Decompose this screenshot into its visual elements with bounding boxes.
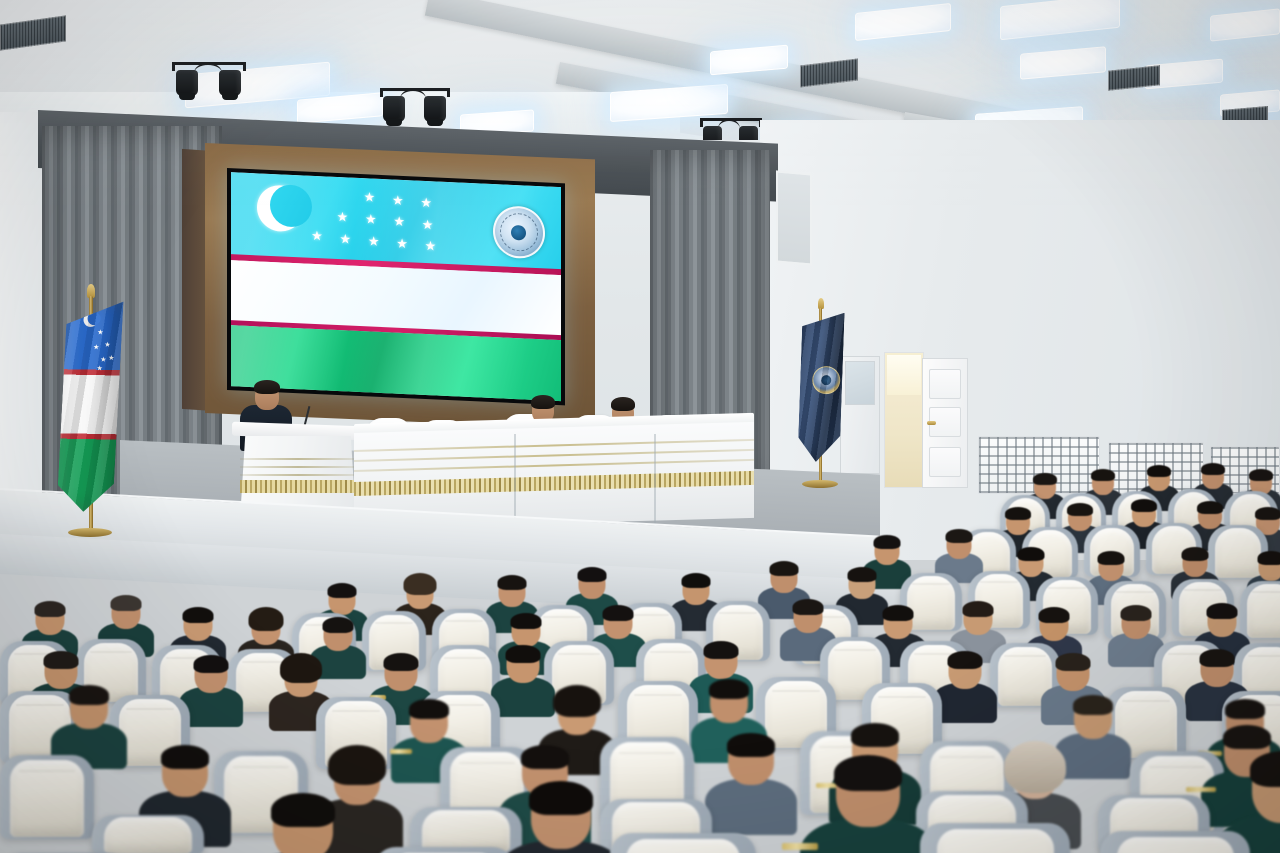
flag-star-icon: ★ [422, 218, 433, 229]
audience-member [498, 645, 548, 711]
flag-star-icon: ★ [339, 233, 350, 244]
conference-hall-photo: ★ ★ ★ ★ ★ ★ ★ ★ ★ ★ ★ ★ [0, 0, 1280, 853]
audience-area [0, 455, 1280, 853]
flag-star-icon: ★ [392, 194, 403, 205]
audience-member [716, 733, 786, 825]
auditorium-seat[interactable] [374, 847, 514, 853]
door-handle-icon[interactable] [927, 421, 936, 425]
flag-star-icon: ★ [364, 191, 375, 202]
flag-star-icon: ★ [337, 211, 348, 222]
flag-star-icon: ★ [425, 240, 436, 251]
led-video-wall[interactable]: ★ ★ ★ ★ ★ ★ ★ ★ ★ ★ ★ ★ [227, 168, 565, 405]
auditorium-seat[interactable] [1100, 831, 1250, 853]
audience-member [820, 755, 916, 853]
auditorium-seat[interactable] [610, 833, 756, 853]
flag-star-icon: ★ [368, 235, 379, 246]
flag-star-icon: ★ [311, 230, 322, 241]
flag-star-icon: ★ [393, 216, 404, 227]
audience-member [258, 793, 348, 853]
flag-star-icon: ★ [365, 213, 376, 224]
wall-niche-panel [776, 170, 812, 265]
auditorium-seat[interactable] [1240, 581, 1280, 639]
flag-star-icon: ★ [396, 238, 407, 249]
audience-member [516, 781, 606, 853]
audience-member [940, 651, 990, 717]
auditorium-seat[interactable] [92, 815, 204, 853]
audience-member [1064, 695, 1122, 771]
audience-member [60, 685, 118, 761]
flag-star-icon: ★ [420, 197, 431, 208]
audience-member [940, 529, 978, 579]
led-screen-surface: ★ ★ ★ ★ ★ ★ ★ ★ ★ ★ ★ ★ [231, 172, 561, 401]
crescent-moon-icon [257, 184, 303, 232]
flag-stars-group: ★ ★ ★ ★ ★ ★ ★ ★ ★ ★ ★ ★ [317, 187, 459, 258]
auditorium-seat[interactable] [920, 823, 1070, 853]
auditorium-seat[interactable] [0, 755, 94, 839]
audience-member [186, 655, 236, 721]
audience-member [1114, 605, 1158, 663]
